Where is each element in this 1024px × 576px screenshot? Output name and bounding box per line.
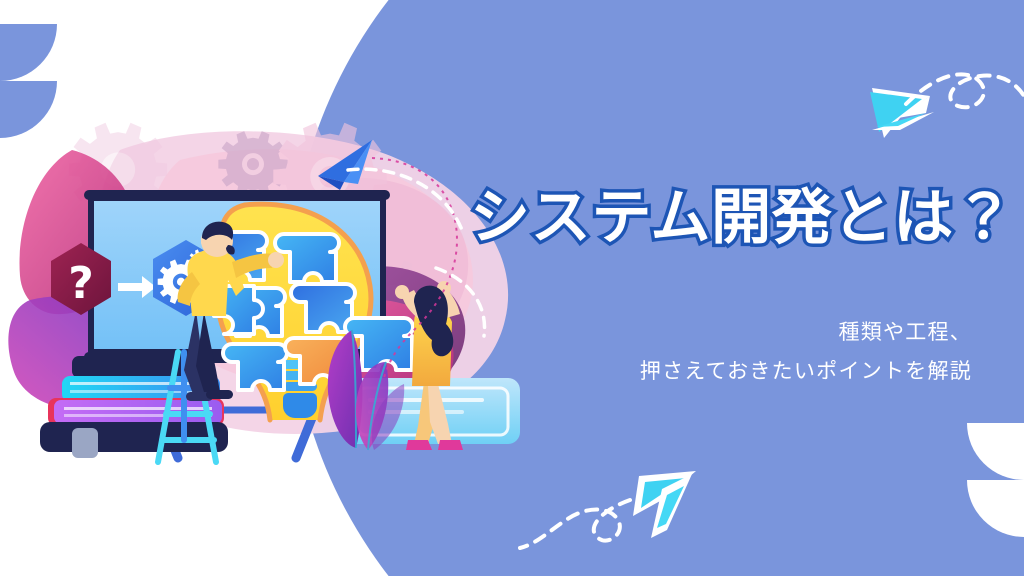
hero-banner: ?: [0, 0, 1024, 576]
paper-plane-bottom: [633, 471, 696, 538]
plane-trail-bottom: [520, 500, 630, 548]
paper-plane-top-right: [870, 88, 934, 138]
paper-plane-decor-layer: [0, 0, 1024, 576]
